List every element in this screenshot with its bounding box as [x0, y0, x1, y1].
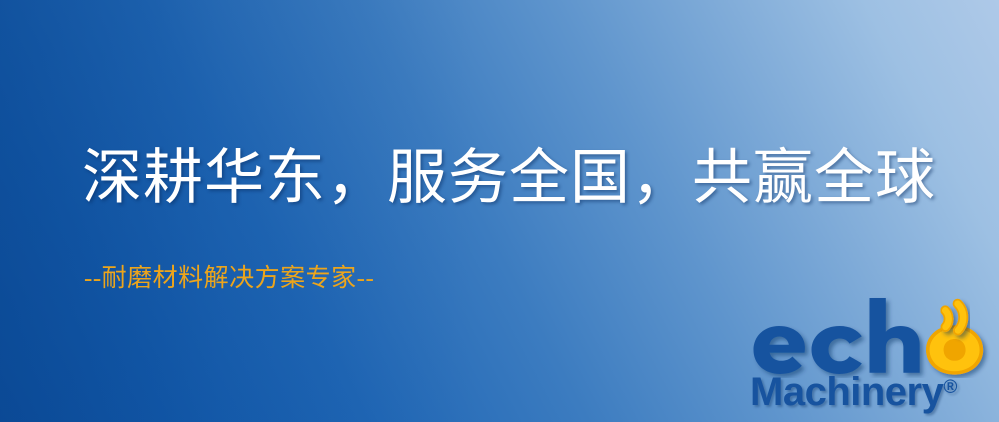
echo-machinery-logo: Machinery®: [742, 296, 994, 420]
logo-product-label: Machinery: [750, 370, 943, 414]
promo-banner: 深耕华东，服务全国，共赢全球 --耐磨材料解决方案专家--: [0, 0, 999, 422]
logo-mark: [742, 296, 994, 378]
logo-letters-ech: [754, 298, 920, 374]
registered-trademark-icon: ®: [943, 377, 957, 398]
banner-subheadline: --耐磨材料解决方案专家--: [84, 264, 374, 294]
logo-product-name: Machinery®: [750, 372, 957, 412]
banner-headline: 深耕华东，服务全国，共赢全球: [82, 147, 936, 211]
